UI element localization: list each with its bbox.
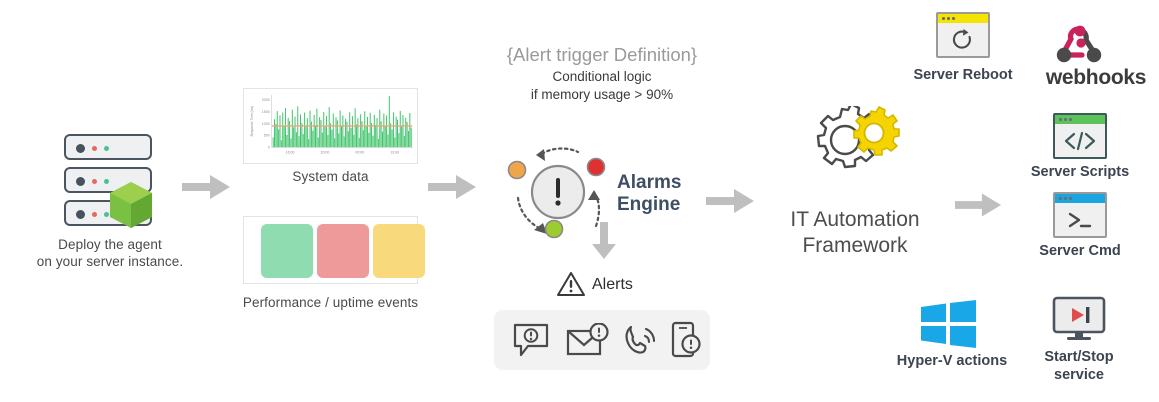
- flow-arrow-icon: [706, 186, 756, 216]
- start-stop-line1: Start/Stop: [1014, 348, 1144, 366]
- it-automation-label-line2: Framework: [760, 233, 950, 259]
- it-automation-label: IT Automation Framework: [760, 207, 950, 259]
- window-code-icon[interactable]: [1053, 113, 1107, 159]
- svg-text:Response Time (ms): Response Time (ms): [250, 106, 254, 136]
- svg-text:2000: 2000: [262, 98, 270, 102]
- svg-text:13:00: 13:00: [390, 150, 399, 154]
- server-scripts-label: Server Scripts: [1005, 163, 1155, 181]
- webhooks-logo-icon[interactable]: [1052, 22, 1108, 68]
- uptime-events-card: [243, 216, 418, 284]
- window-reload-icon[interactable]: [936, 12, 990, 58]
- stage1-caption-line1: Deploy the agent: [30, 236, 190, 253]
- alarms-engine-label-line2: Engine: [617, 194, 681, 216]
- svg-text:00:00: 00:00: [355, 150, 364, 154]
- event-bar-red: [317, 224, 369, 278]
- alert-definition-line1: Conditional logic: [452, 68, 752, 85]
- hyper-v-label: Hyper-V actions: [872, 352, 1032, 370]
- gears-icon: [808, 106, 900, 198]
- server-cmd-label: Server Cmd: [1005, 242, 1155, 260]
- status-dot-green: [546, 221, 563, 238]
- stage1-caption: Deploy the agent on your server instance…: [30, 236, 190, 270]
- diagram-canvas: Deploy the agent on your server instance…: [0, 0, 1159, 402]
- notification-channels-panel: [494, 310, 710, 370]
- server-unit: [64, 134, 152, 160]
- cube-icon: [108, 180, 154, 230]
- server-stack-icon: [64, 134, 156, 234]
- webhooks-label: webhooks: [1036, 66, 1156, 90]
- start-stop-service-label: Start/Stop service: [1014, 348, 1144, 384]
- window-terminal-icon[interactable]: [1053, 192, 1107, 238]
- event-bar-green: [261, 224, 313, 278]
- chart-caption: System data: [243, 168, 418, 185]
- it-automation-label-line1: IT Automation: [760, 207, 950, 233]
- reload-arrow-icon: [951, 28, 975, 52]
- svg-text:20:00: 20:00: [321, 150, 330, 154]
- flow-arrow-icon: [955, 190, 1003, 220]
- system-data-chart-card: 0500100015002000 16:0020:0000:0013:00 Re…: [243, 88, 418, 164]
- alert-definition-line2: if memory usage > 90%: [452, 86, 752, 103]
- chat-alert-icon[interactable]: [512, 322, 550, 358]
- flow-arrow-icon: [182, 172, 232, 202]
- code-brackets-icon: [1063, 131, 1097, 151]
- phone-call-icon[interactable]: [622, 323, 660, 357]
- email-alert-icon[interactable]: [566, 323, 610, 357]
- alarms-engine-label-line1: Alarms: [617, 172, 681, 194]
- alert-definition-title: {Alert trigger Definition}: [452, 44, 752, 66]
- stage1-caption-line2: on your server instance.: [30, 253, 190, 270]
- server-reboot-label: Server Reboot: [888, 66, 1038, 84]
- svg-text:500: 500: [264, 134, 270, 138]
- event-bar-yellow: [373, 224, 425, 278]
- svg-text:16:00: 16:00: [286, 150, 295, 154]
- windows-logo-icon[interactable]: [918, 300, 980, 348]
- mobile-alert-icon[interactable]: [670, 321, 702, 359]
- event-bars: [261, 224, 425, 278]
- warning-triangle-icon: [556, 270, 586, 298]
- alarms-engine-label: Alarms Engine: [617, 172, 681, 216]
- start-stop-line2: service: [1014, 366, 1144, 384]
- down-arrow-icon: [590, 222, 618, 260]
- status-dot-orange: [509, 162, 526, 179]
- system-data-chart: 0500100015002000 16:0020:0000:0013:00 Re…: [244, 89, 417, 163]
- svg-text:1000: 1000: [262, 122, 270, 126]
- status-dot-red: [588, 159, 605, 176]
- svg-text:1500: 1500: [262, 110, 270, 114]
- monitor-play-icon[interactable]: [1050, 296, 1108, 344]
- alerts-label: Alerts: [592, 276, 633, 294]
- flow-arrow-icon: [428, 172, 478, 202]
- terminal-prompt-icon: [1065, 210, 1095, 230]
- events-caption: Performance / uptime events: [218, 294, 443, 311]
- svg-text:0: 0: [268, 146, 270, 150]
